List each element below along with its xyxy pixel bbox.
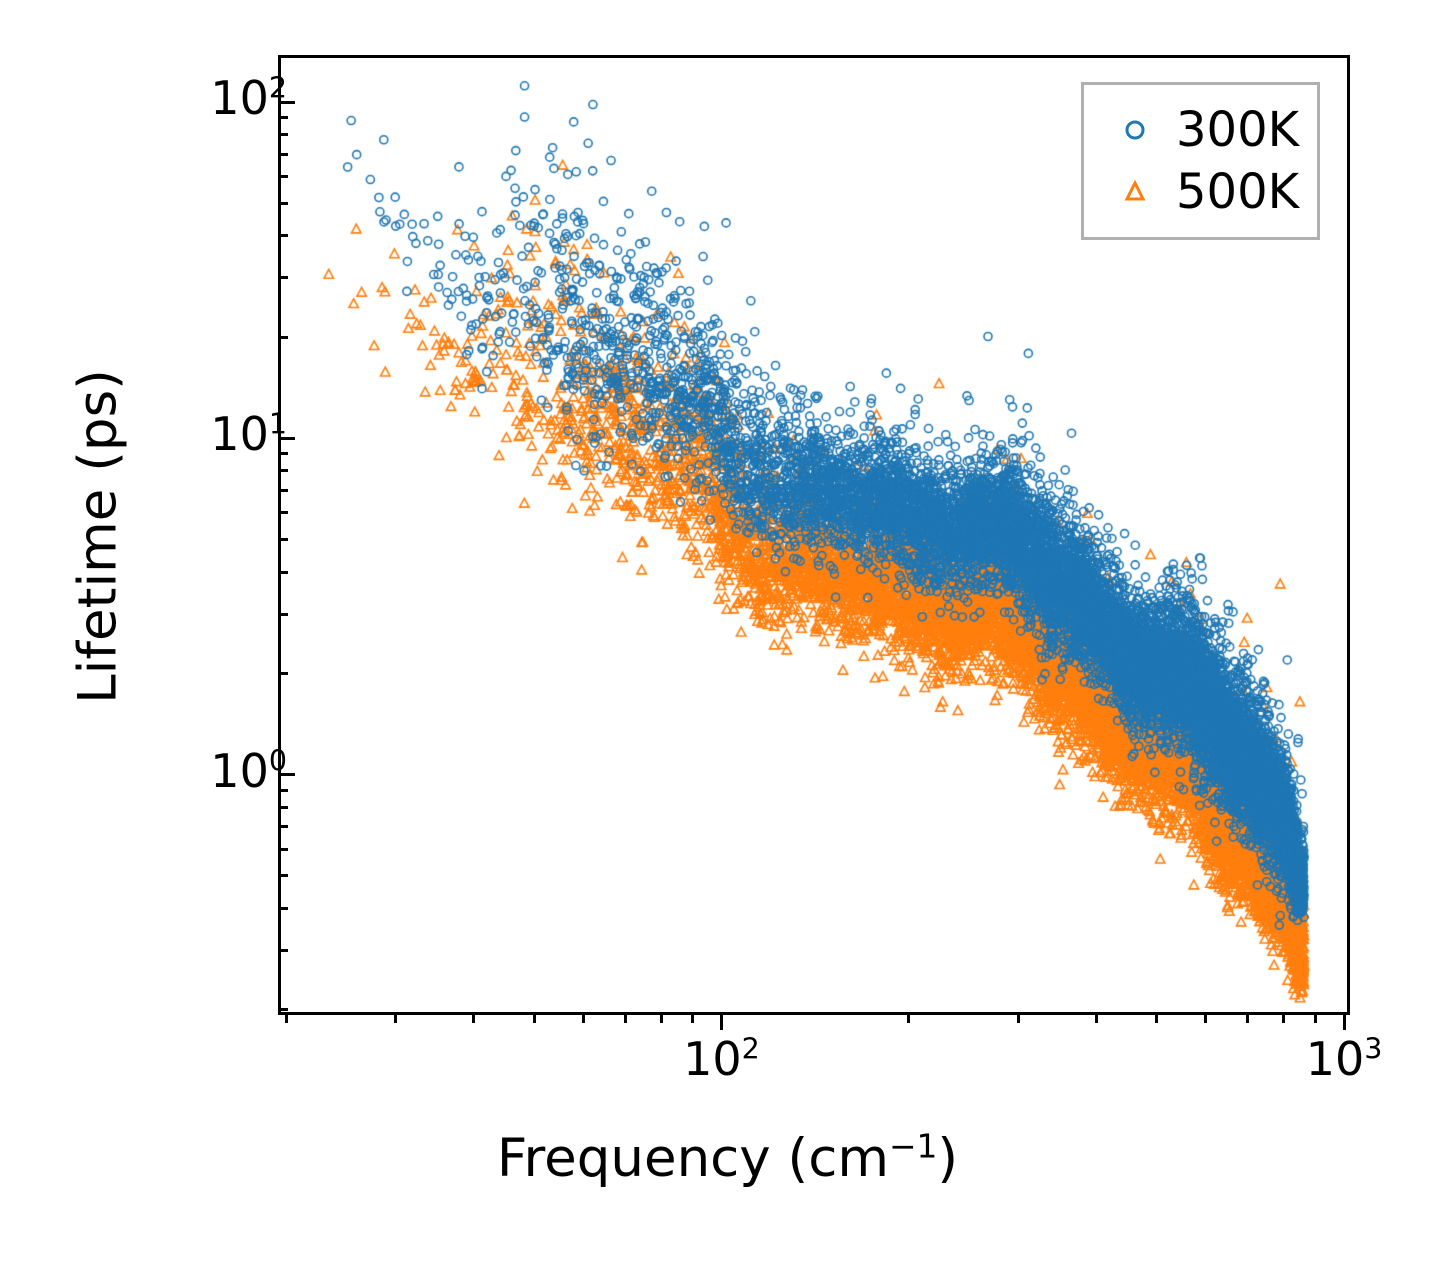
y-minor-tick	[278, 234, 288, 237]
y-minor-tick	[278, 806, 288, 809]
y-tick-label: 102	[210, 75, 287, 121]
x-minor-tick	[907, 1012, 910, 1023]
x-minor-tick	[533, 1012, 536, 1023]
x-minor-tick	[394, 1012, 397, 1023]
y-minor-tick	[278, 336, 288, 339]
y-tick-label: 100	[210, 748, 287, 794]
legend-label-300k: 300K	[1172, 106, 1299, 154]
triangle-marker-icon	[1098, 177, 1172, 207]
x-minor-tick	[285, 1012, 288, 1023]
legend: 300K 500K	[1081, 82, 1320, 240]
x-minor-tick	[691, 1012, 694, 1023]
x-major-tick	[1343, 1012, 1346, 1030]
x-axis-label-text: Frequency (cm	[497, 1128, 889, 1189]
y-minor-tick	[278, 613, 288, 616]
x-minor-tick	[1017, 1012, 1020, 1023]
x-minor-tick	[660, 1012, 663, 1023]
x-axis-label: Frequency (cm−1)	[0, 1131, 1455, 1187]
y-minor-tick	[278, 489, 288, 492]
legend-entry-500k[interactable]: 500K	[1098, 161, 1299, 223]
x-minor-tick	[1204, 1012, 1207, 1023]
phonon-lifetime-figure: 102101100102103 Frequency (cm−1) Lifetim…	[0, 0, 1455, 1265]
x-tick-label: 103	[1306, 1036, 1383, 1082]
y-minor-tick	[278, 1008, 288, 1011]
legend-label-500k: 500K	[1172, 168, 1299, 216]
x-minor-tick	[582, 1012, 585, 1023]
y-axis-label: Lifetime (ps)	[72, 57, 125, 1017]
y-minor-tick	[278, 202, 288, 205]
x-minor-tick	[1155, 1012, 1158, 1023]
x-minor-tick	[1314, 1012, 1317, 1023]
y-minor-tick	[278, 511, 288, 514]
y-minor-tick	[278, 825, 288, 828]
y-minor-tick	[278, 153, 288, 156]
x-minor-tick	[1246, 1012, 1249, 1023]
y-minor-tick	[278, 907, 288, 910]
y-minor-tick	[278, 874, 288, 877]
circle-marker-icon	[1098, 115, 1172, 145]
y-minor-tick	[278, 571, 288, 574]
x-axis-label-exponent: −1	[889, 1126, 937, 1165]
y-minor-tick	[278, 469, 288, 472]
x-minor-tick	[472, 1012, 475, 1023]
x-axis-label-tail: )	[937, 1128, 958, 1189]
legend-entry-300k[interactable]: 300K	[1098, 99, 1299, 161]
x-tick-label: 102	[683, 1036, 760, 1082]
y-tick-label: 101	[210, 411, 287, 457]
x-minor-tick	[1095, 1012, 1098, 1023]
x-minor-tick	[624, 1012, 627, 1023]
y-minor-tick	[278, 538, 288, 541]
x-major-tick	[720, 1012, 723, 1030]
y-minor-tick	[278, 672, 288, 675]
x-minor-tick	[1282, 1012, 1285, 1023]
y-minor-tick	[278, 133, 288, 136]
y-minor-tick	[278, 848, 288, 851]
y-minor-tick	[278, 175, 288, 178]
y-minor-tick	[278, 949, 288, 952]
y-minor-tick	[278, 276, 288, 279]
